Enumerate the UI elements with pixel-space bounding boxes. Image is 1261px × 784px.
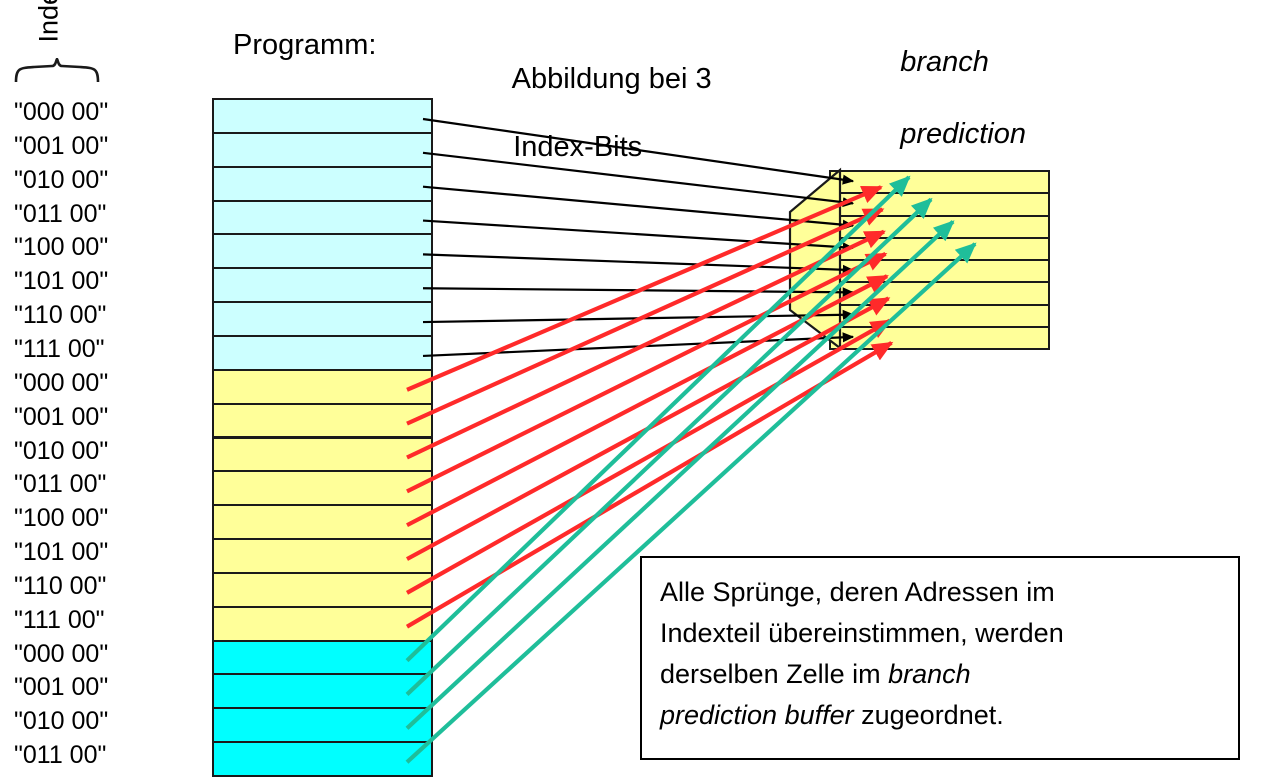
program-row bbox=[212, 132, 433, 168]
caption-line-4-italic: prediction buffer bbox=[660, 700, 854, 730]
caption-line-4-plain: zugeordnet. bbox=[854, 700, 1004, 730]
program-row bbox=[212, 369, 433, 405]
mapping-arrow bbox=[407, 187, 881, 390]
program-row bbox=[212, 403, 433, 439]
address-label: "110 00" bbox=[14, 574, 106, 599]
address-label: "010 00" bbox=[14, 168, 108, 193]
program-row bbox=[212, 98, 433, 134]
program-row bbox=[212, 301, 433, 337]
buffer-row bbox=[829, 237, 1050, 261]
mapping-heading: Abbildung bei 3 Index-Bits bbox=[481, 28, 712, 198]
program-row bbox=[212, 606, 433, 642]
mapping-arrow bbox=[407, 321, 890, 593]
address-label: "100 00" bbox=[14, 235, 108, 260]
explanation-box: Alle Sprünge, deren Adressen im Indextei… bbox=[640, 556, 1240, 760]
caption-line-1: Alle Sprünge, deren Adressen im bbox=[660, 572, 1222, 613]
buffer-heading-line1: branch bbox=[900, 46, 989, 78]
program-row bbox=[212, 166, 433, 202]
address-label: "001 00" bbox=[14, 134, 108, 159]
address-label: "111 00" bbox=[14, 608, 105, 633]
mapping-arrow bbox=[407, 209, 883, 423]
program-row bbox=[212, 200, 433, 236]
buffer-row bbox=[829, 281, 1050, 305]
program-row bbox=[212, 504, 433, 540]
address-label: "010 00" bbox=[14, 709, 108, 734]
address-label: "010 00" bbox=[14, 439, 108, 464]
buffer-row bbox=[829, 170, 1050, 194]
mapping-arrow bbox=[423, 221, 853, 248]
index-axis-label: Index bbox=[36, 0, 63, 65]
program-heading: Programm: bbox=[233, 28, 376, 62]
caption-line-4: prediction buffer zugeordnet. bbox=[660, 695, 1222, 736]
address-label: "011 00" bbox=[14, 202, 106, 227]
buffer-heading-line2: prediction bbox=[900, 118, 1026, 150]
program-row bbox=[212, 267, 433, 303]
address-label: "011 00" bbox=[14, 472, 106, 497]
program-row bbox=[212, 572, 433, 608]
mapping-arrow bbox=[407, 254, 886, 491]
program-row bbox=[212, 437, 433, 473]
program-row bbox=[212, 470, 433, 506]
program-row bbox=[212, 640, 433, 676]
mapping-arrow bbox=[423, 288, 853, 292]
program-row bbox=[212, 233, 433, 269]
address-label: "101 00" bbox=[14, 540, 108, 565]
mapping-arrow bbox=[423, 337, 853, 356]
mapping-arrow bbox=[407, 232, 884, 458]
program-row bbox=[212, 335, 433, 371]
caption-line-3-italic: branch bbox=[888, 659, 971, 689]
mapping-arrow bbox=[407, 298, 889, 559]
program-row bbox=[212, 673, 433, 709]
buffer-row bbox=[829, 192, 1050, 216]
caption-line-3: derselben Zelle im branch bbox=[660, 654, 1222, 695]
address-label: "100 00" bbox=[14, 506, 108, 531]
mapping-heading-line2: Index-Bits bbox=[513, 131, 642, 163]
buffer-row bbox=[829, 326, 1050, 350]
address-label: "001 00" bbox=[14, 405, 108, 430]
mapping-arrow bbox=[423, 254, 853, 270]
mapping-arrow bbox=[407, 276, 887, 525]
buffer-row bbox=[829, 304, 1050, 328]
program-row bbox=[212, 707, 433, 743]
program-row bbox=[212, 538, 433, 574]
address-label: "000 00" bbox=[14, 100, 108, 125]
program-row bbox=[212, 741, 433, 777]
mapping-arrow bbox=[423, 315, 853, 322]
caption-line-2: Indexteil übereinstimmen, werden bbox=[660, 613, 1222, 654]
mapping-heading-line1: Abbildung bei 3 bbox=[512, 63, 712, 95]
buffer-row bbox=[829, 215, 1050, 239]
diagram-canvas: Index "000 00""001 00""010 00""011 00""1… bbox=[0, 0, 1261, 784]
address-label: "110 00" bbox=[14, 303, 106, 328]
buffer-row bbox=[829, 259, 1050, 283]
address-label: "101 00" bbox=[14, 269, 108, 294]
index-brace-icon bbox=[14, 58, 100, 84]
address-label: "000 00" bbox=[14, 371, 108, 396]
address-label: "111 00" bbox=[14, 337, 105, 362]
address-label: "011 00" bbox=[14, 743, 106, 768]
address-label: "000 00" bbox=[14, 642, 108, 667]
caption-line-3-plain: derselben Zelle im bbox=[660, 659, 888, 689]
address-label: "001 00" bbox=[14, 675, 108, 700]
